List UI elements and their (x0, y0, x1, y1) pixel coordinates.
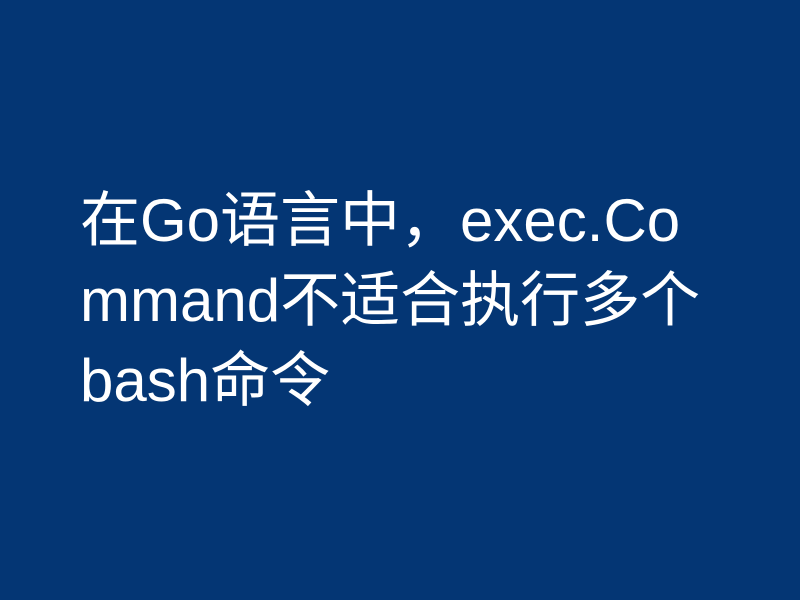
title-card: 在Go语言中，exec.Command不适合执行多个bash命令 (0, 0, 800, 600)
title-text-block: 在Go语言中，exec.Command不适合执行多个bash命令 (80, 141, 702, 461)
page-title: 在Go语言中，exec.Command不适合执行多个bash命令 (80, 181, 702, 421)
